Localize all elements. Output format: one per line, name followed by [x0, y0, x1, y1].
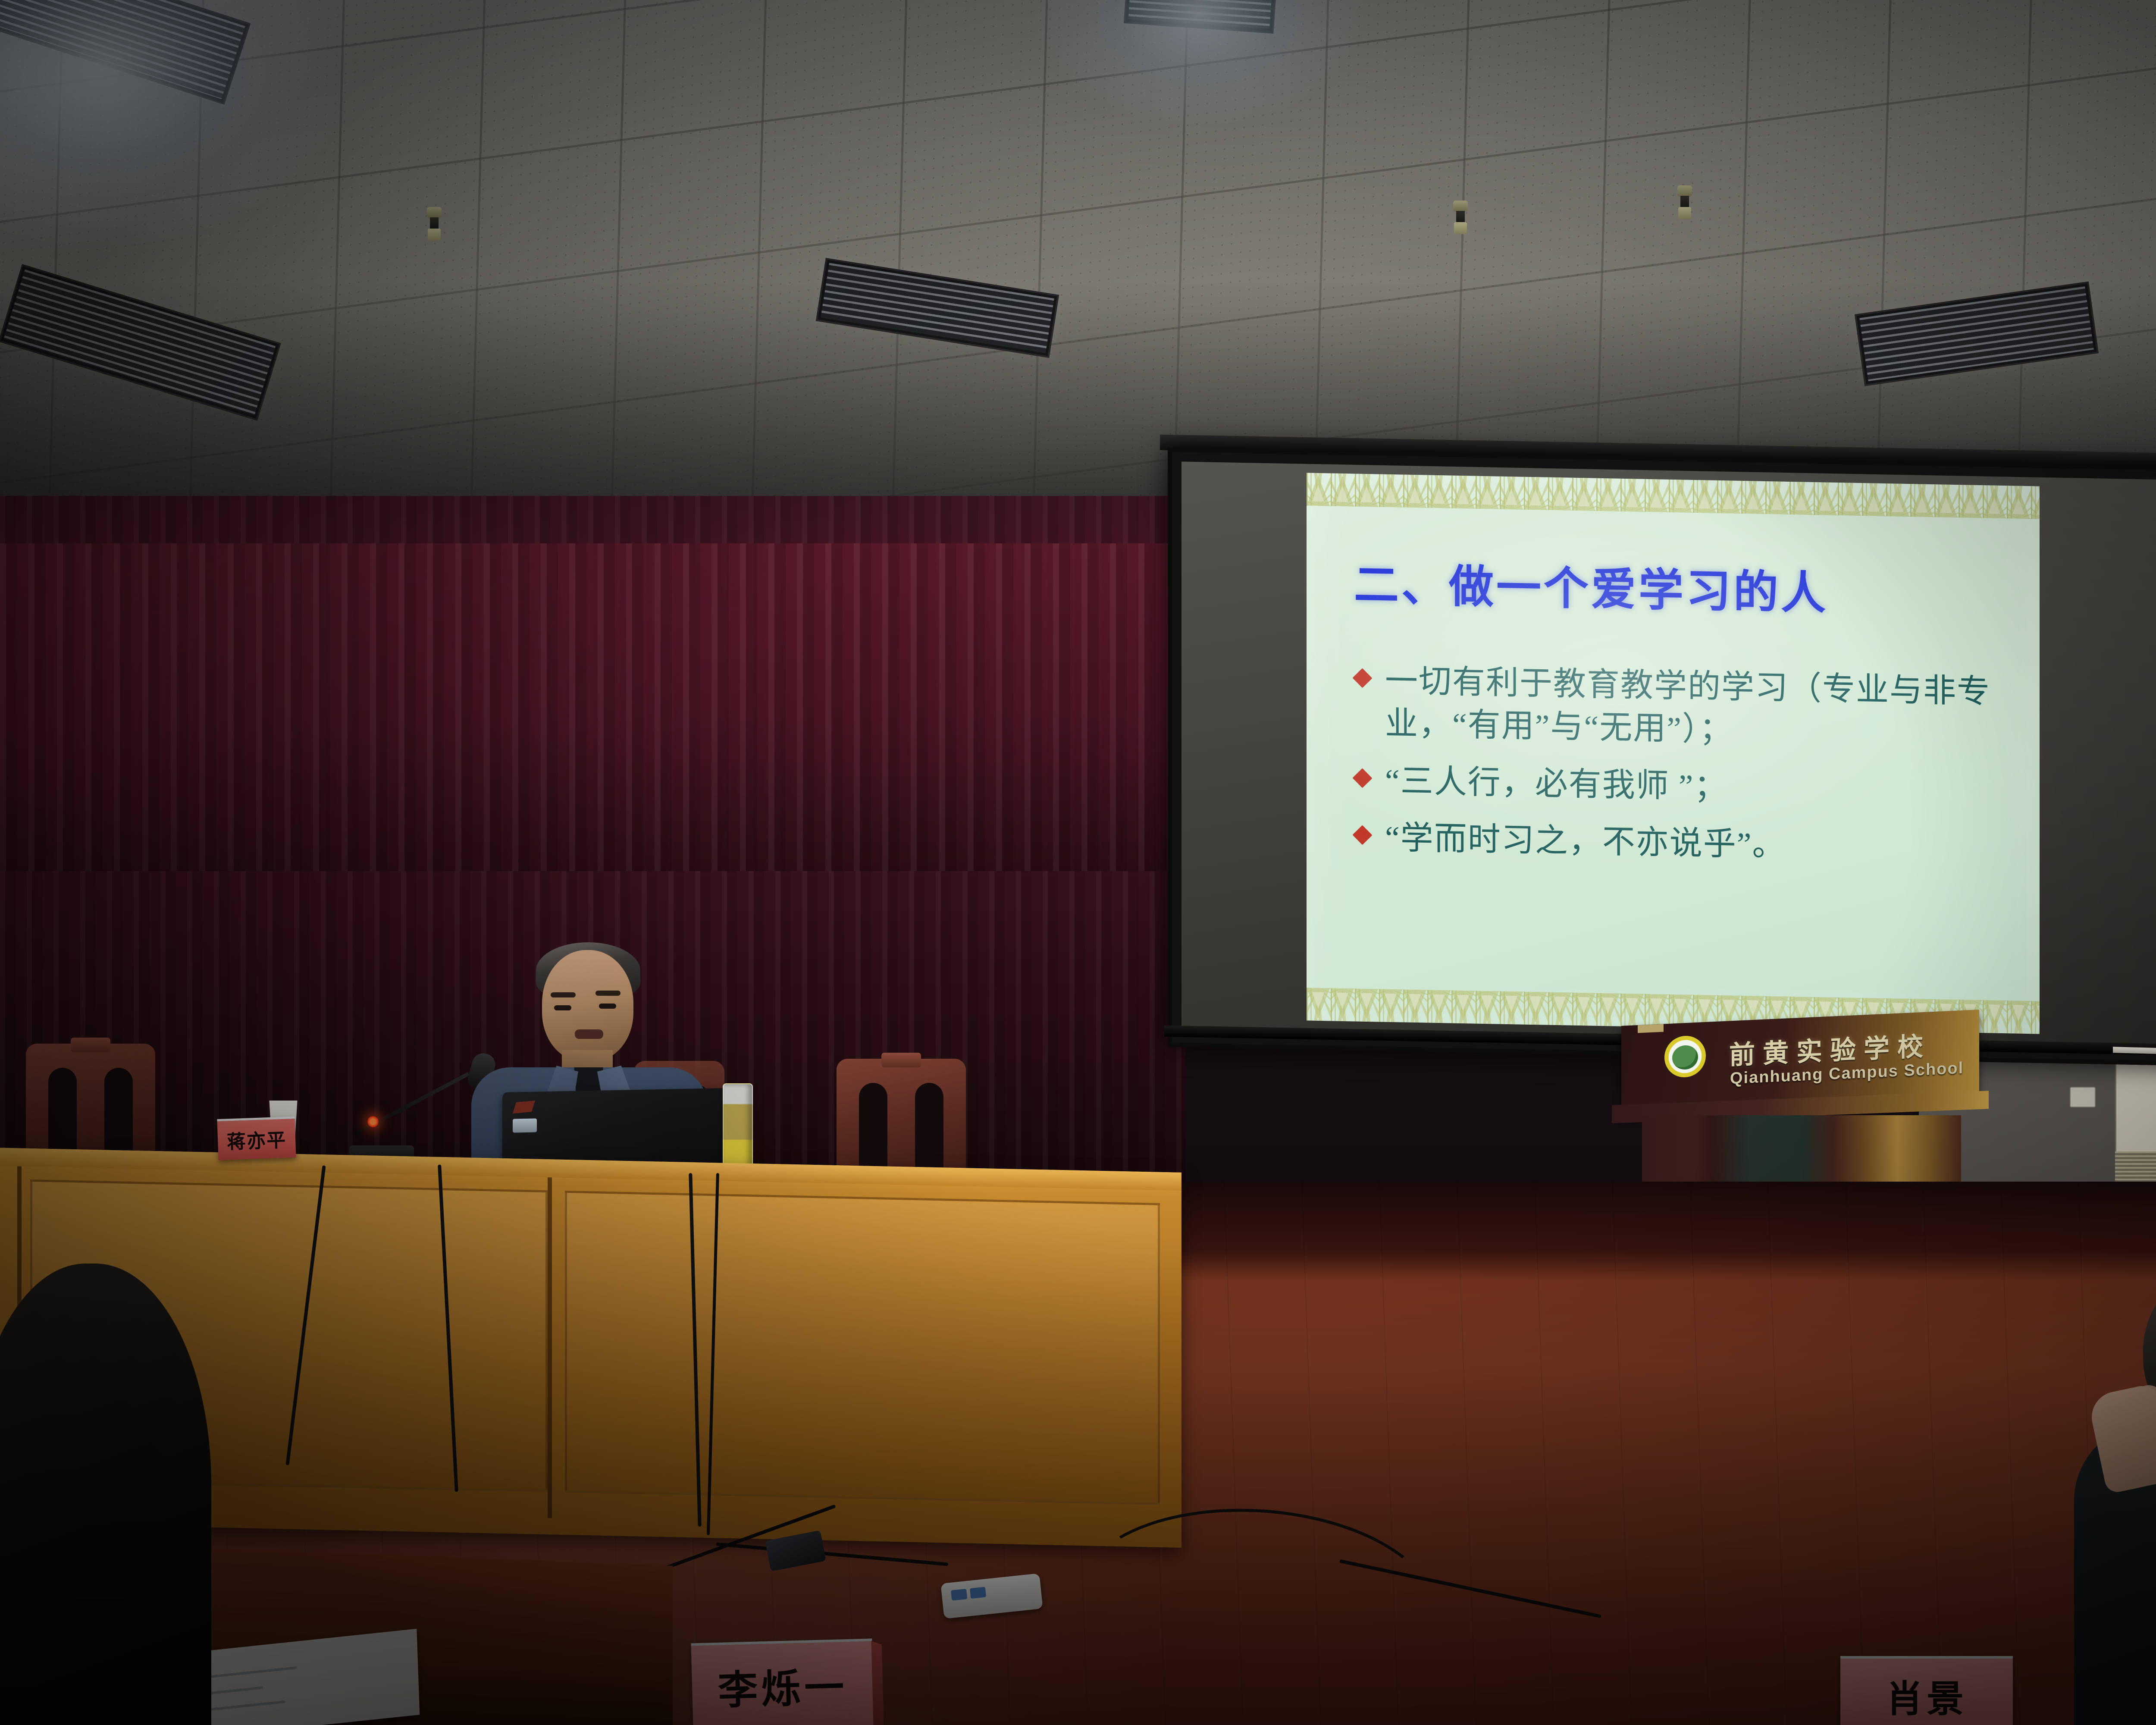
globe-icon — [1672, 1045, 1698, 1070]
sprinkler-cap — [1677, 185, 1692, 197]
laptop-sticker-badge — [513, 1118, 537, 1132]
presenter-mouth — [575, 1029, 603, 1039]
stage-curtain-left-highlight — [0, 543, 1173, 871]
audience-member-left — [0, 1264, 211, 1725]
wooden-chair-center — [837, 1059, 966, 1184]
microphone-power-led — [367, 1116, 379, 1127]
louver-grille — [1128, 0, 1273, 29]
table-panel-seam — [548, 1177, 552, 1518]
fire-sprinkler-3 — [1677, 185, 1692, 219]
diamond-bullet-icon — [1354, 769, 1371, 787]
name-card-text: 李烁一 — [717, 1655, 848, 1716]
slide-title: 二、做一个爱学习的人 — [1354, 548, 1828, 621]
presenter-eye — [599, 1004, 616, 1009]
slide-bullet-1: 一切有利于教育教学的学习（专业与非专业，“有用”与“无用”）； — [1351, 659, 2007, 756]
presentation-slide: 二、做一个爱学习的人 一切有利于教育教学的学习（专业与非专业，“有用”与“无用”… — [1307, 473, 2040, 1034]
slide-bullet-3: “学而时习之，不亦说乎”。 — [1351, 816, 2007, 871]
name-card-stage-left: 李烁一 — [691, 1639, 874, 1725]
name-card-text: 肖景 — [1886, 1669, 1967, 1722]
name-card-stage-right: 肖景 — [1840, 1656, 2013, 1725]
wall-power-socket[interactable] — [2070, 1087, 2096, 1107]
sprinkler-cap — [427, 207, 442, 218]
sprinkler-base — [428, 229, 441, 241]
slide-bullet-text: “学而时习之，不亦说乎”。 — [1385, 817, 2007, 871]
slide-bullet-text: “三人行，必有我师 ”； — [1385, 759, 2007, 813]
audience-member-right — [2057, 1259, 2156, 1725]
power-switch[interactable] — [951, 1589, 967, 1601]
laptop-brand-logo-icon — [513, 1101, 535, 1113]
slide-bullet-2: “三人行，必有我师 ”； — [1351, 759, 2007, 814]
chair-crest — [71, 1038, 110, 1052]
ceiling — [0, 0, 2156, 509]
chair-crest — [881, 1053, 921, 1067]
power-switch[interactable] — [970, 1587, 986, 1599]
fire-sprinkler-1 — [427, 207, 442, 241]
presenter-eyebrow — [551, 992, 576, 997]
diamond-bullet-icon — [1354, 827, 1371, 844]
lecture-hall-scene: 二、做一个爱学习的人 一切有利于教育教学的学习（专业与非专业，“有用”与“无用”… — [0, 0, 2156, 1725]
fire-sprinkler-2 — [1453, 201, 1468, 234]
slide-bullet-text: 一切有利于教育教学的学习（专业与非专业，“有用”与“无用”）； — [1385, 660, 2007, 756]
ceiling-shading — [0, 0, 2156, 509]
chair-back — [837, 1059, 966, 1184]
sprinkler-base — [1678, 207, 1691, 219]
presenter-eyebrow — [595, 991, 620, 996]
sprinkler-base — [1454, 222, 1467, 234]
slide-body: 一切有利于教育教学的学习（专业与非专业，“有用”与“无用”）； “三人行，必有我… — [1351, 659, 2007, 885]
name-card-head-table: 蒋亦平 — [217, 1117, 296, 1160]
name-card-text: 蒋亦平 — [226, 1125, 287, 1154]
sprinkler-cap — [1453, 201, 1468, 212]
presenter-eye — [554, 1005, 571, 1010]
table-front-panel — [565, 1191, 1160, 1505]
diamond-bullet-icon — [1354, 669, 1371, 687]
podium-label-tag — [1638, 1024, 1664, 1033]
glass-tea-bottle — [723, 1083, 753, 1174]
